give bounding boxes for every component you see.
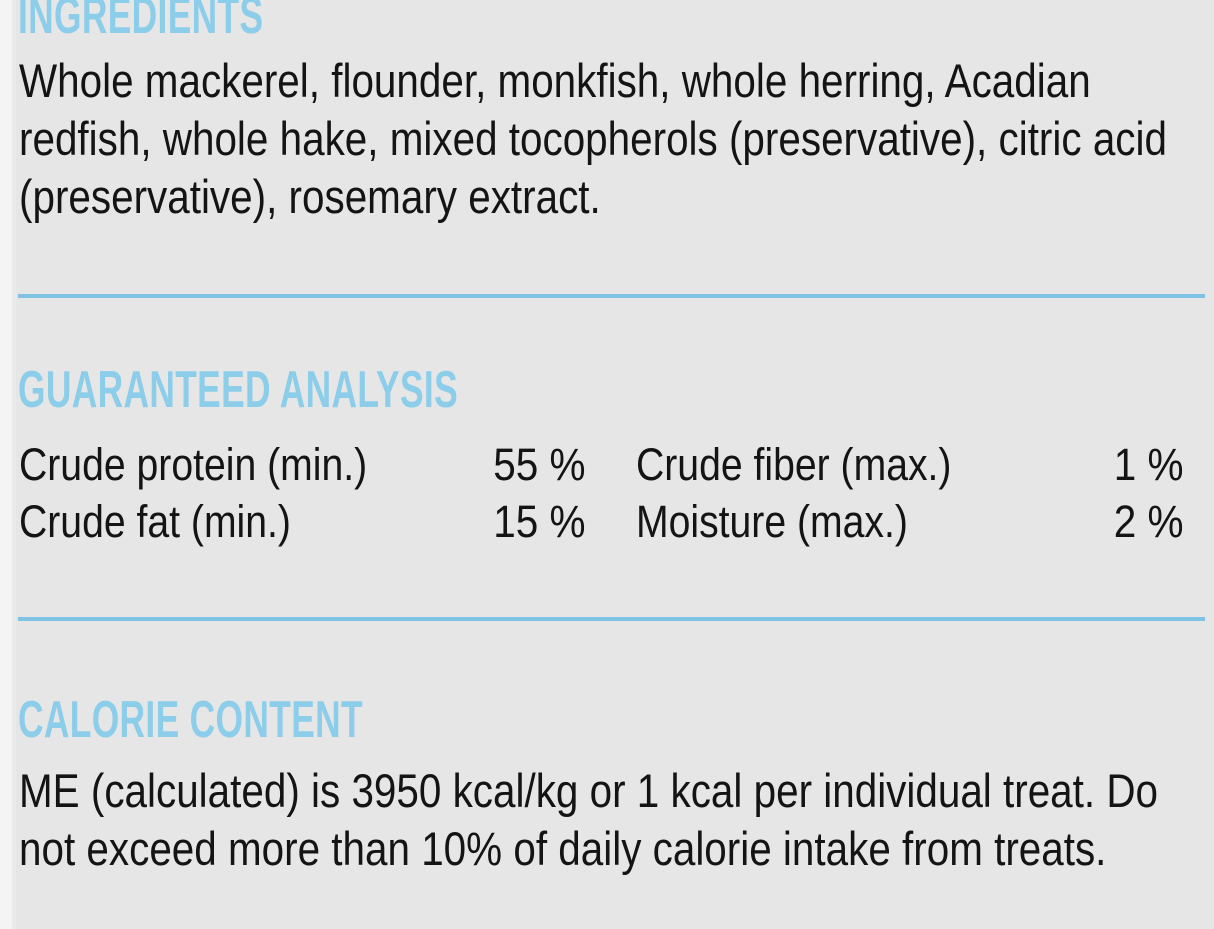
ingredients-text: Whole mackerel, flounder, monkfish, whol… (19, 52, 1209, 226)
analysis-label-crude-fiber: Crude fiber (max.) (636, 436, 1036, 493)
left-edge-highlight (0, 0, 12, 929)
analysis-label-text: Moisture (max.) (636, 493, 908, 550)
analysis-label-text: Crude fat (min.) (19, 493, 291, 550)
analysis-value-crude-protein: 55 % (434, 436, 586, 493)
guaranteed-analysis-heading: GUARANTEED ANALYSIS (18, 364, 458, 416)
analysis-value-moisture: 2 % (1036, 493, 1184, 550)
section-divider-bottom (18, 617, 1205, 621)
analysis-value-text: 15 % (494, 493, 586, 550)
calorie-content-heading: CALORIE CONTENT (18, 694, 363, 746)
pet-food-label-panel: INGREDIENTS Whole mackerel, flounder, mo… (0, 0, 1214, 929)
left-edge-highlight-inner (12, 0, 16, 929)
analysis-value-text: 55 % (494, 436, 586, 493)
analysis-label-crude-fat: Crude fat (min.) (19, 493, 434, 550)
table-row: Crude fat (min.) 15 % Moisture (max.) 2 … (19, 493, 1184, 550)
ingredients-heading-container: INGREDIENTS (18, 0, 379, 42)
analysis-value-text: 2 % (1114, 493, 1184, 550)
analysis-column-gap (586, 436, 636, 493)
guaranteed-analysis-heading-container: GUARANTEED ANALYSIS (18, 364, 665, 416)
analysis-label-crude-protein: Crude protein (min.) (19, 436, 434, 493)
guaranteed-analysis-table: Crude protein (min.) 55 % Crude fiber (m… (19, 436, 1184, 550)
section-divider-top (18, 294, 1205, 298)
analysis-label-text: Crude protein (min.) (19, 436, 367, 493)
analysis-label-text: Crude fiber (max.) (636, 436, 951, 493)
ingredients-body-container: Whole mackerel, flounder, monkfish, whol… (19, 52, 1209, 226)
calorie-content-body-container: ME (calculated) is 3950 kcal/kg or 1 kca… (19, 762, 1209, 878)
analysis-column-gap (586, 493, 636, 550)
table-row: Crude protein (min.) 55 % Crude fiber (m… (19, 436, 1184, 493)
calorie-content-heading-container: CALORIE CONTENT (18, 694, 525, 746)
analysis-value-crude-fiber: 1 % (1036, 436, 1184, 493)
analysis-label-moisture: Moisture (max.) (636, 493, 1036, 550)
analysis-value-text: 1 % (1114, 436, 1184, 493)
analysis-value-crude-fat: 15 % (434, 493, 586, 550)
ingredients-heading: INGREDIENTS (18, 0, 263, 42)
calorie-content-text: ME (calculated) is 3950 kcal/kg or 1 kca… (19, 762, 1209, 878)
